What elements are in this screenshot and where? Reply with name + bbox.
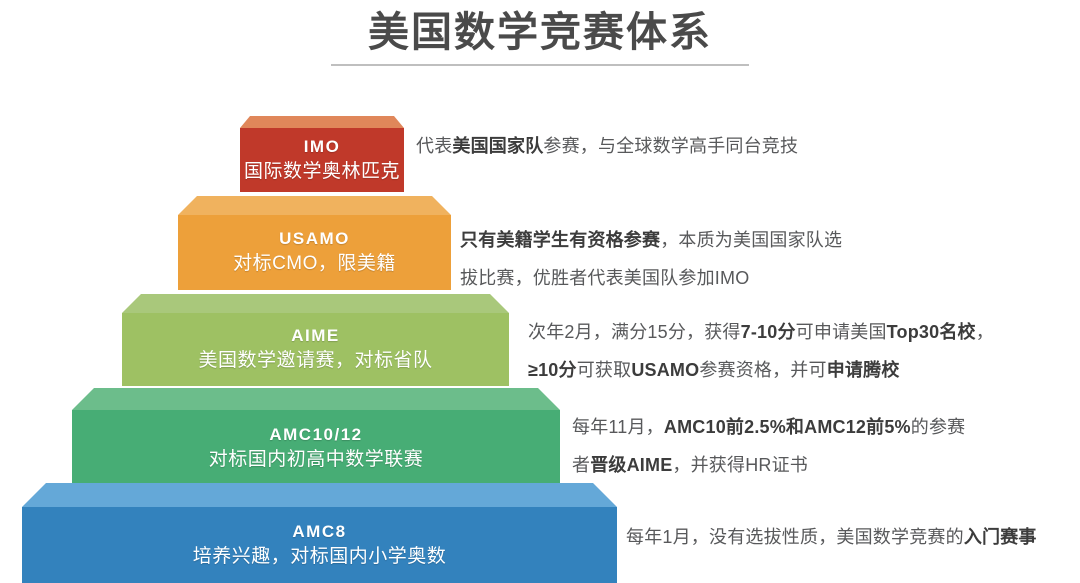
tier-subtitle-aime: 美国数学邀请赛，对标省队 <box>198 348 432 374</box>
description-line: 只有美籍学生有资格参赛，本质为美国国家队选 <box>460 221 842 259</box>
emphasis-text: AMC10前2.5%和AMC12前5% <box>664 417 911 437</box>
description-line: ≥10分可获取USAMO参赛资格，并可申请腾校 <box>528 351 994 389</box>
pyramid-tier-imo[interactable]: IMO 国际数学奥林匹克 <box>240 116 404 192</box>
description-line: 代表美国国家队参赛，与全球数学高手同台竞技 <box>416 127 798 165</box>
description-line: 每年11月，AMC10前2.5%和AMC12前5%的参赛 <box>572 408 965 446</box>
plain-text: 参赛，与全球数学高手同台竞技 <box>543 136 798 156</box>
description-amc8: 每年1月，没有选拔性质，美国数学竞赛的入门赛事 <box>626 518 1037 556</box>
emphasis-text: 只有美籍学生有资格参赛 <box>460 230 660 250</box>
description-imo: 代表美国国家队参赛，与全球数学高手同台竞技 <box>416 127 798 165</box>
plain-text: ，并获得HR证书 <box>672 455 808 475</box>
tier-name-amc8: AMC8 <box>292 521 346 543</box>
plain-text: 代表 <box>416 136 452 156</box>
tier-name-usamo: USAMO <box>279 228 350 250</box>
description-aime: 次年2月，满分15分，获得7-10分可申请美国Top30名校，≥10分可获取US… <box>528 313 994 389</box>
tier-front-face-aime: AIME 美国数学邀请赛，对标省队 <box>122 313 509 386</box>
emphasis-text: ≥10分 <box>528 360 577 380</box>
tier-subtitle-amc1012: 对标国内初高中数学联赛 <box>209 447 424 473</box>
description-usamo: 只有美籍学生有资格参赛，本质为美国国家队选拔比赛，优胜者代表美国队参加IMO <box>460 221 842 297</box>
plain-text: 参赛资格，并可 <box>699 360 826 380</box>
emphasis-text: 申请腾校 <box>827 360 900 380</box>
emphasis-text: Top30名校 <box>887 322 976 342</box>
plain-text: 可申请美国 <box>796 322 887 342</box>
description-line: 每年1月，没有选拔性质，美国数学竞赛的入门赛事 <box>626 518 1037 556</box>
tier-subtitle-imo: 国际数学奥林匹克 <box>244 159 400 185</box>
pyramid-tier-amc1012[interactable]: AMC10/12 对标国内初高中数学联赛 <box>72 388 560 486</box>
plain-text: ， <box>976 322 994 342</box>
tier-subtitle-amc8: 培养兴趣，对标国内小学奥数 <box>193 544 447 570</box>
emphasis-text: 美国国家队 <box>452 136 543 156</box>
tier-subtitle-usamo: 对标CMO，限美籍 <box>233 251 396 277</box>
emphasis-text: 7-10分 <box>741 322 796 342</box>
pyramid-tier-aime[interactable]: AIME 美国数学邀请赛，对标省队 <box>122 294 509 386</box>
competition-pyramid-infographic: 美国数学竞赛体系 IMO 国际数学奥林匹克 USAMO 对标CMO，限美籍 AI… <box>0 0 1080 583</box>
tier-name-imo: IMO <box>304 136 341 158</box>
emphasis-text: USAMO <box>631 360 699 380</box>
tier-name-aime: AIME <box>291 325 340 347</box>
plain-text: 次年2月，满分15分，获得 <box>528 322 741 342</box>
emphasis-text: 晋级AIME <box>590 455 672 475</box>
tier-front-face-imo: IMO 国际数学奥林匹克 <box>240 128 404 192</box>
plain-text: 每年11月， <box>572 417 664 437</box>
description-line: 次年2月，满分15分，获得7-10分可申请美国Top30名校， <box>528 313 994 351</box>
description-line: 拔比赛，优胜者代表美国队参加IMO <box>460 259 842 297</box>
plain-text: ，本质为美国国家队选 <box>660 230 842 250</box>
tier-front-face-usamo: USAMO 对标CMO，限美籍 <box>178 215 451 290</box>
description-line: 者晋级AIME，并获得HR证书 <box>572 446 965 484</box>
pyramid-tier-amc8[interactable]: AMC8 培养兴趣，对标国内小学奥数 <box>22 483 617 583</box>
plain-text: 拔比赛，优胜者代表美国队参加IMO <box>460 268 749 288</box>
pyramid-tier-usamo[interactable]: USAMO 对标CMO，限美籍 <box>178 196 451 290</box>
plain-text: 者 <box>572 455 590 475</box>
tier-front-face-amc8: AMC8 培养兴趣，对标国内小学奥数 <box>22 507 617 583</box>
description-amc1012: 每年11月，AMC10前2.5%和AMC12前5%的参赛者晋级AIME，并获得H… <box>572 408 965 484</box>
tier-name-amc1012: AMC10/12 <box>269 424 362 446</box>
plain-text: 可获取 <box>577 360 632 380</box>
tier-front-face-amc1012: AMC10/12 对标国内初高中数学联赛 <box>72 410 560 486</box>
plain-text: 的参赛 <box>911 417 966 437</box>
plain-text: 每年1月，没有选拔性质，美国数学竞赛的 <box>626 527 964 547</box>
emphasis-text: 入门赛事 <box>964 527 1037 547</box>
